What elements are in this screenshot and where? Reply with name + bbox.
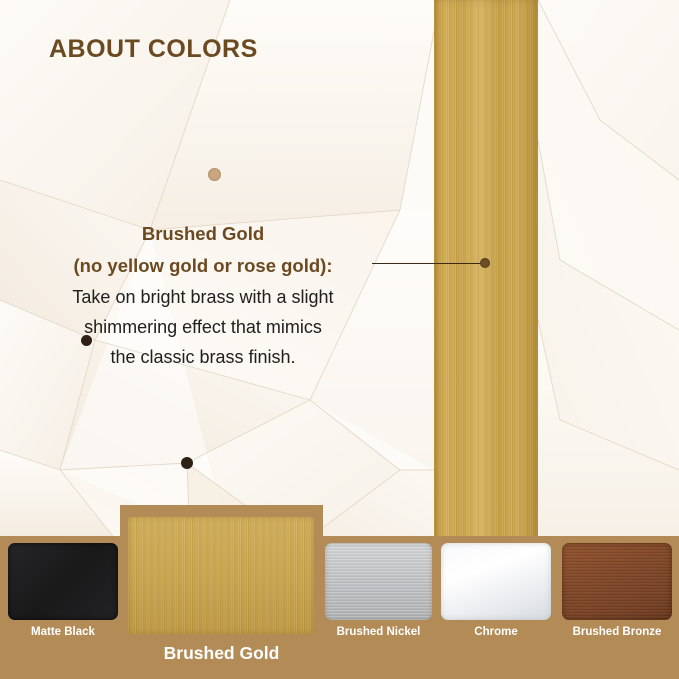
callout-body-line-2: shimmering effect that mimics: [34, 312, 372, 342]
swatch-chip-brushed-nickel[interactable]: [325, 543, 432, 620]
swatch-label-chrome: Chrome: [441, 626, 551, 638]
decorative-dot-tan: [208, 168, 221, 181]
callout-body-line-3: the classic brass finish.: [34, 342, 372, 372]
swatch-matte-black[interactable]: Matte Black: [8, 543, 118, 643]
swatch-label-brushed-bronze: Brushed Bronze: [562, 626, 672, 638]
brushed-gold-sample-bar: [434, 0, 538, 546]
swatch-label-matte-black: Matte Black: [8, 626, 118, 638]
swatch-chip-matte-black[interactable]: [8, 543, 118, 620]
callout-leader-line: [372, 263, 485, 264]
callout-body-line-1: Take on bright brass with a slight: [34, 282, 372, 312]
product-infographic: ABOUT COLORS Brushed Gold (no yellow gol…: [0, 0, 679, 679]
swatch-chrome[interactable]: Chrome: [441, 543, 551, 643]
page-title: ABOUT COLORS: [49, 35, 258, 64]
swatch-brushed-nickel[interactable]: Brushed Nickel: [325, 543, 432, 643]
decorative-dot-dark-lower: [181, 457, 193, 469]
swatch-brushed-gold-selected[interactable]: Brushed Gold: [120, 505, 323, 663]
callout-text-block: Brushed Gold (no yellow gold or rose gol…: [34, 218, 372, 372]
callout-heading-line-1: Brushed Gold: [34, 218, 372, 250]
callout-heading-line-2: (no yellow gold or rose gold):: [34, 250, 372, 282]
swatch-label-brushed-nickel: Brushed Nickel: [325, 626, 432, 638]
swatch-chip-chrome[interactable]: [441, 543, 551, 620]
callout-leader-endpoint-dot: [480, 258, 490, 268]
swatch-chip-brushed-bronze[interactable]: [562, 543, 672, 620]
swatch-chip-brushed-gold[interactable]: [128, 517, 314, 634]
swatch-label-brushed-gold: Brushed Gold: [120, 643, 323, 664]
swatch-brushed-bronze[interactable]: Brushed Bronze: [562, 543, 672, 643]
